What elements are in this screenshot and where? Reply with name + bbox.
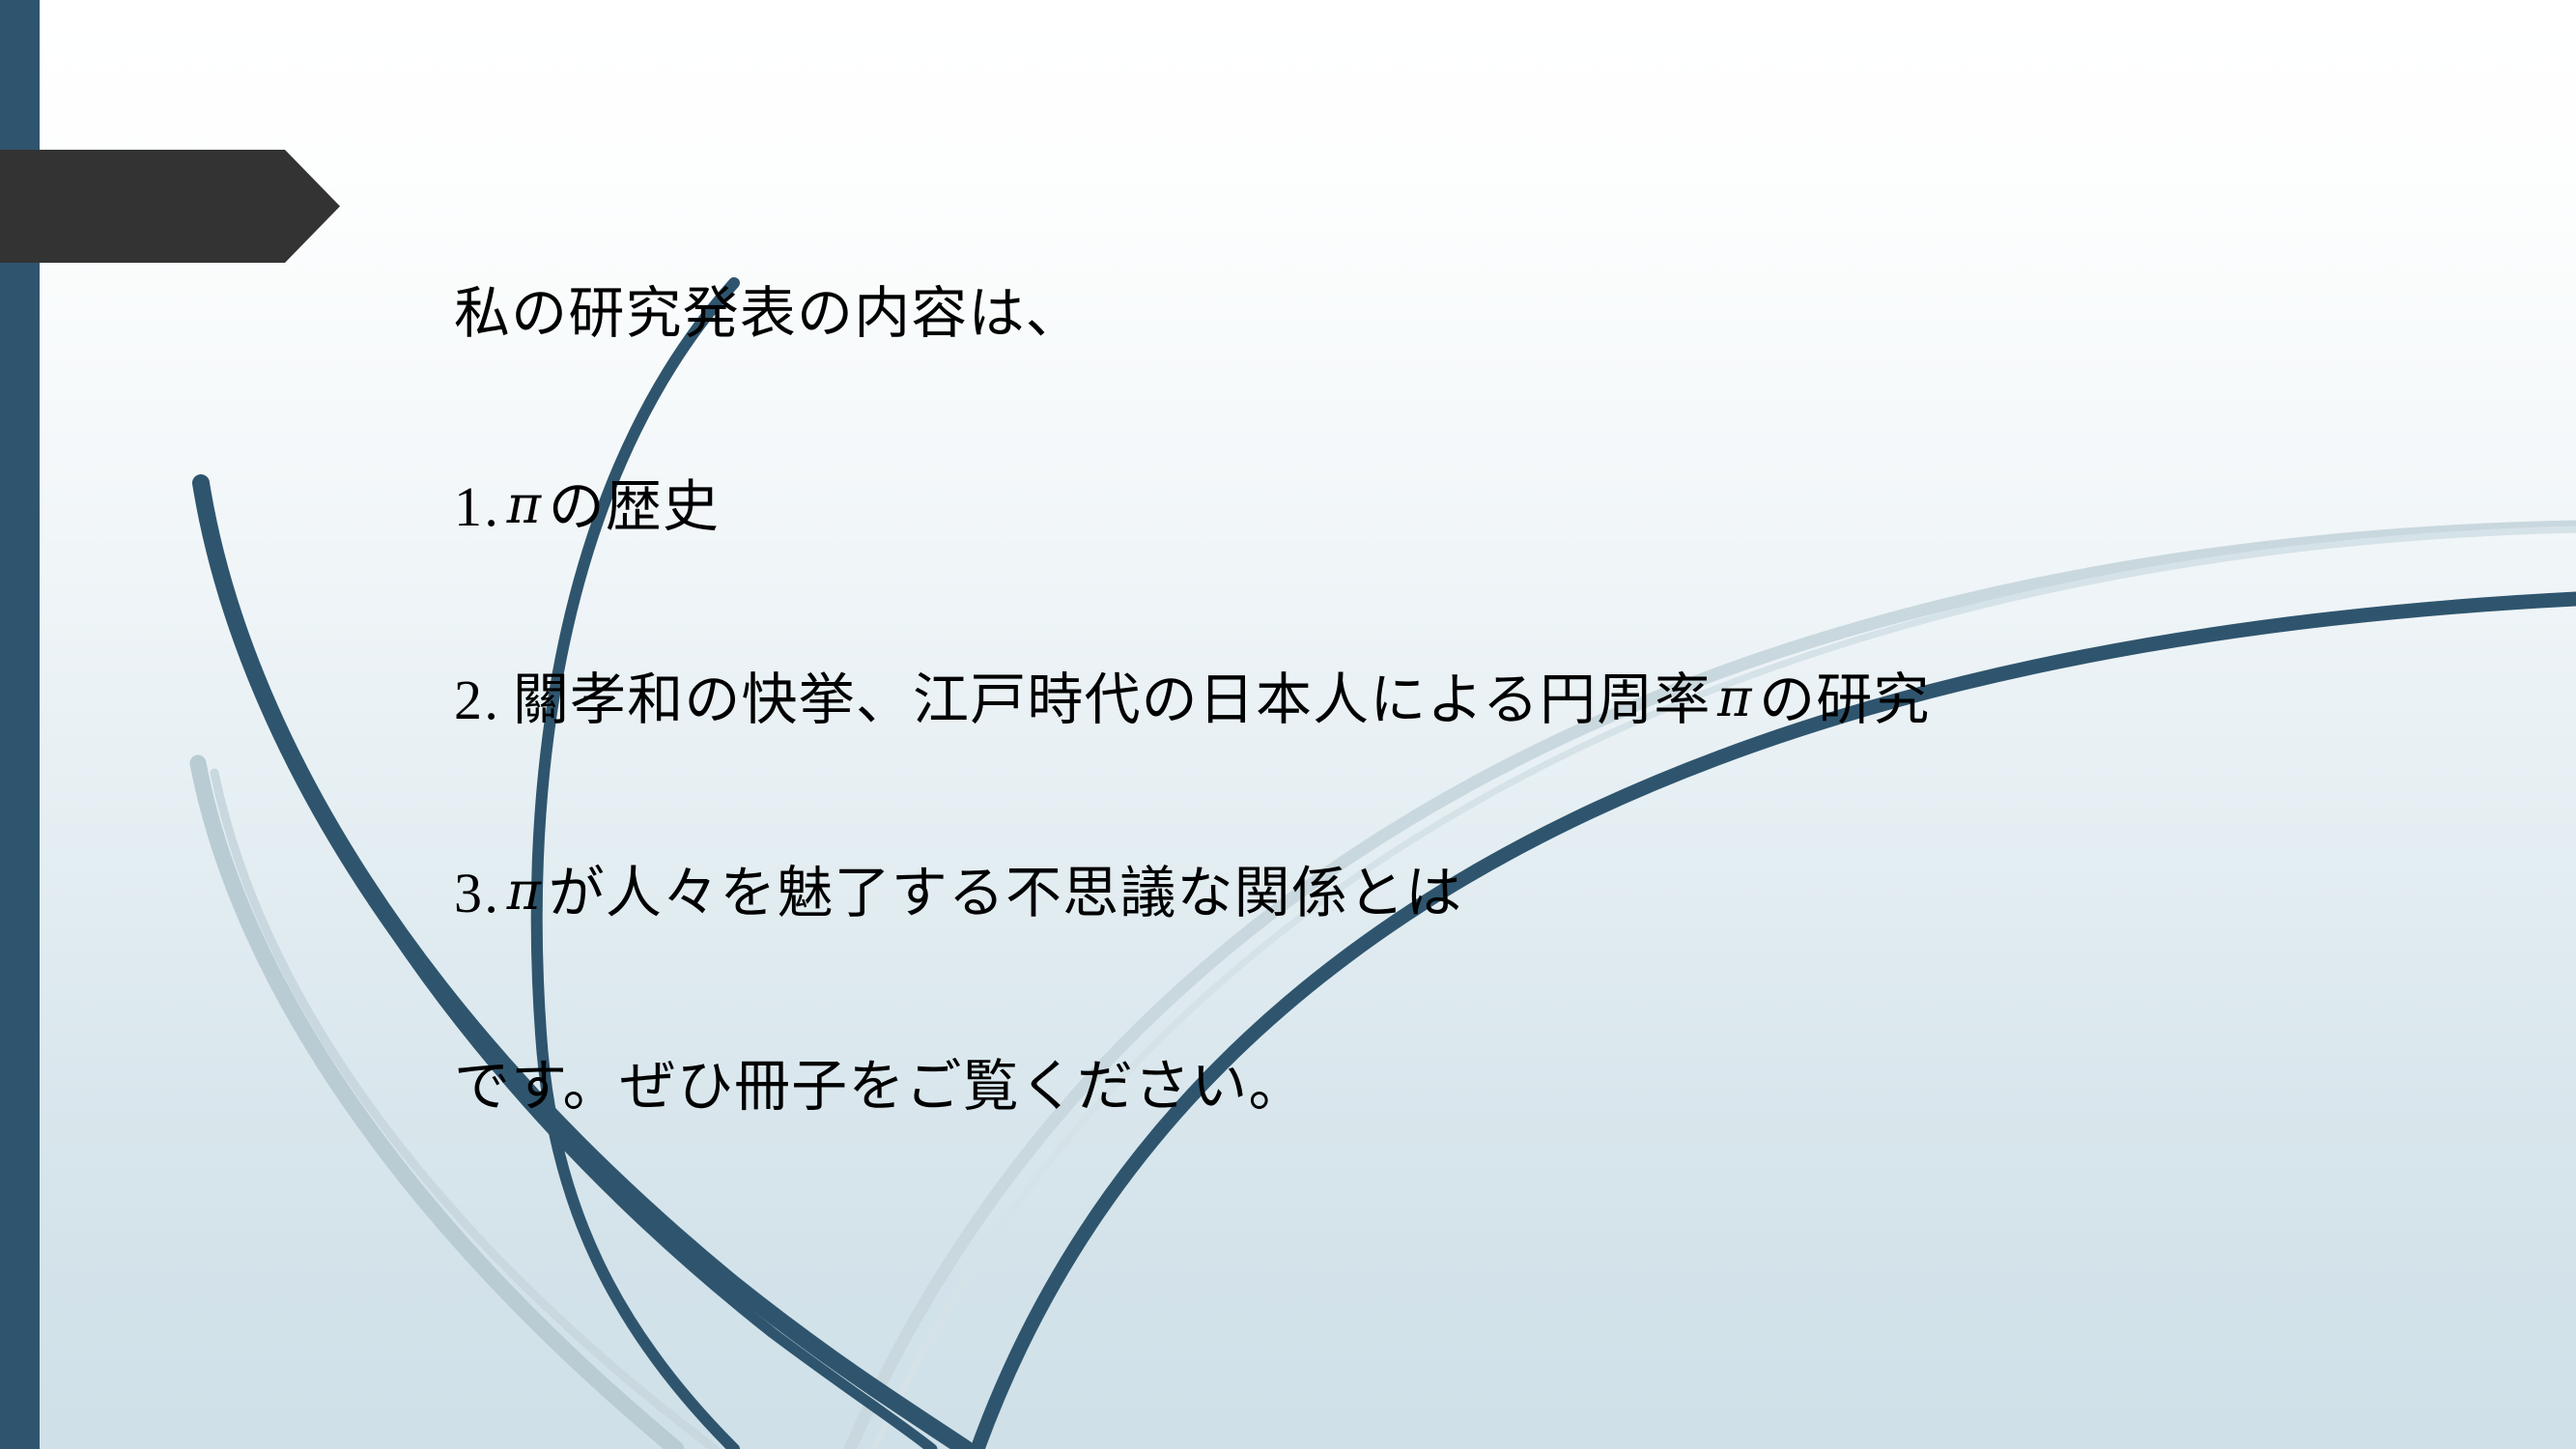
body-line-item-3: 3. π が人々を魅了する不思議な関係とは [454, 866, 2502, 1059]
body-line-intro-text: 私の研究発表の内容は、 [454, 286, 1083, 342]
body-line-closing: です。ぜひ冊子をご覧ください。 [454, 1059, 2502, 1115]
pi-symbol-3: π [500, 866, 549, 918]
body-line-closing-text: です。ぜひ冊子をご覧ください。 [454, 1059, 1306, 1115]
pi-symbol-1: π [500, 479, 549, 531]
slide-body-text: 私の研究発表の内容は、 1. π の歴史 2. 關孝和の快挙、江戸時代の日本人に… [454, 286, 2502, 1115]
body-line-item-2: 2. 關孝和の快挙、江戸時代の日本人による円周率 π の研究 [454, 672, 2502, 866]
presentation-slide: 私の研究発表の内容は、 1. π の歴史 2. 關孝和の快挙、江戸時代の日本人に… [0, 0, 2576, 1449]
body-line-item-2-pre: 關孝和の快挙、江戸時代の日本人による円周率 [500, 672, 1711, 728]
body-line-intro: 私の研究発表の内容は、 [454, 286, 2502, 479]
list-marker-2: 2. [454, 672, 500, 728]
list-marker-1: 1. [454, 479, 500, 535]
body-line-item-3-text: が人々を魅了する不思議な関係とは [549, 866, 1463, 922]
body-line-item-2-post: の研究 [1759, 672, 1930, 728]
body-line-item-1: 1. π の歴史 [454, 479, 2502, 672]
pi-symbol-2: π [1712, 672, 1760, 724]
body-line-item-1-text: の歴史 [549, 479, 720, 535]
title-arrow-banner [0, 150, 340, 263]
list-marker-3: 3. [454, 866, 500, 922]
